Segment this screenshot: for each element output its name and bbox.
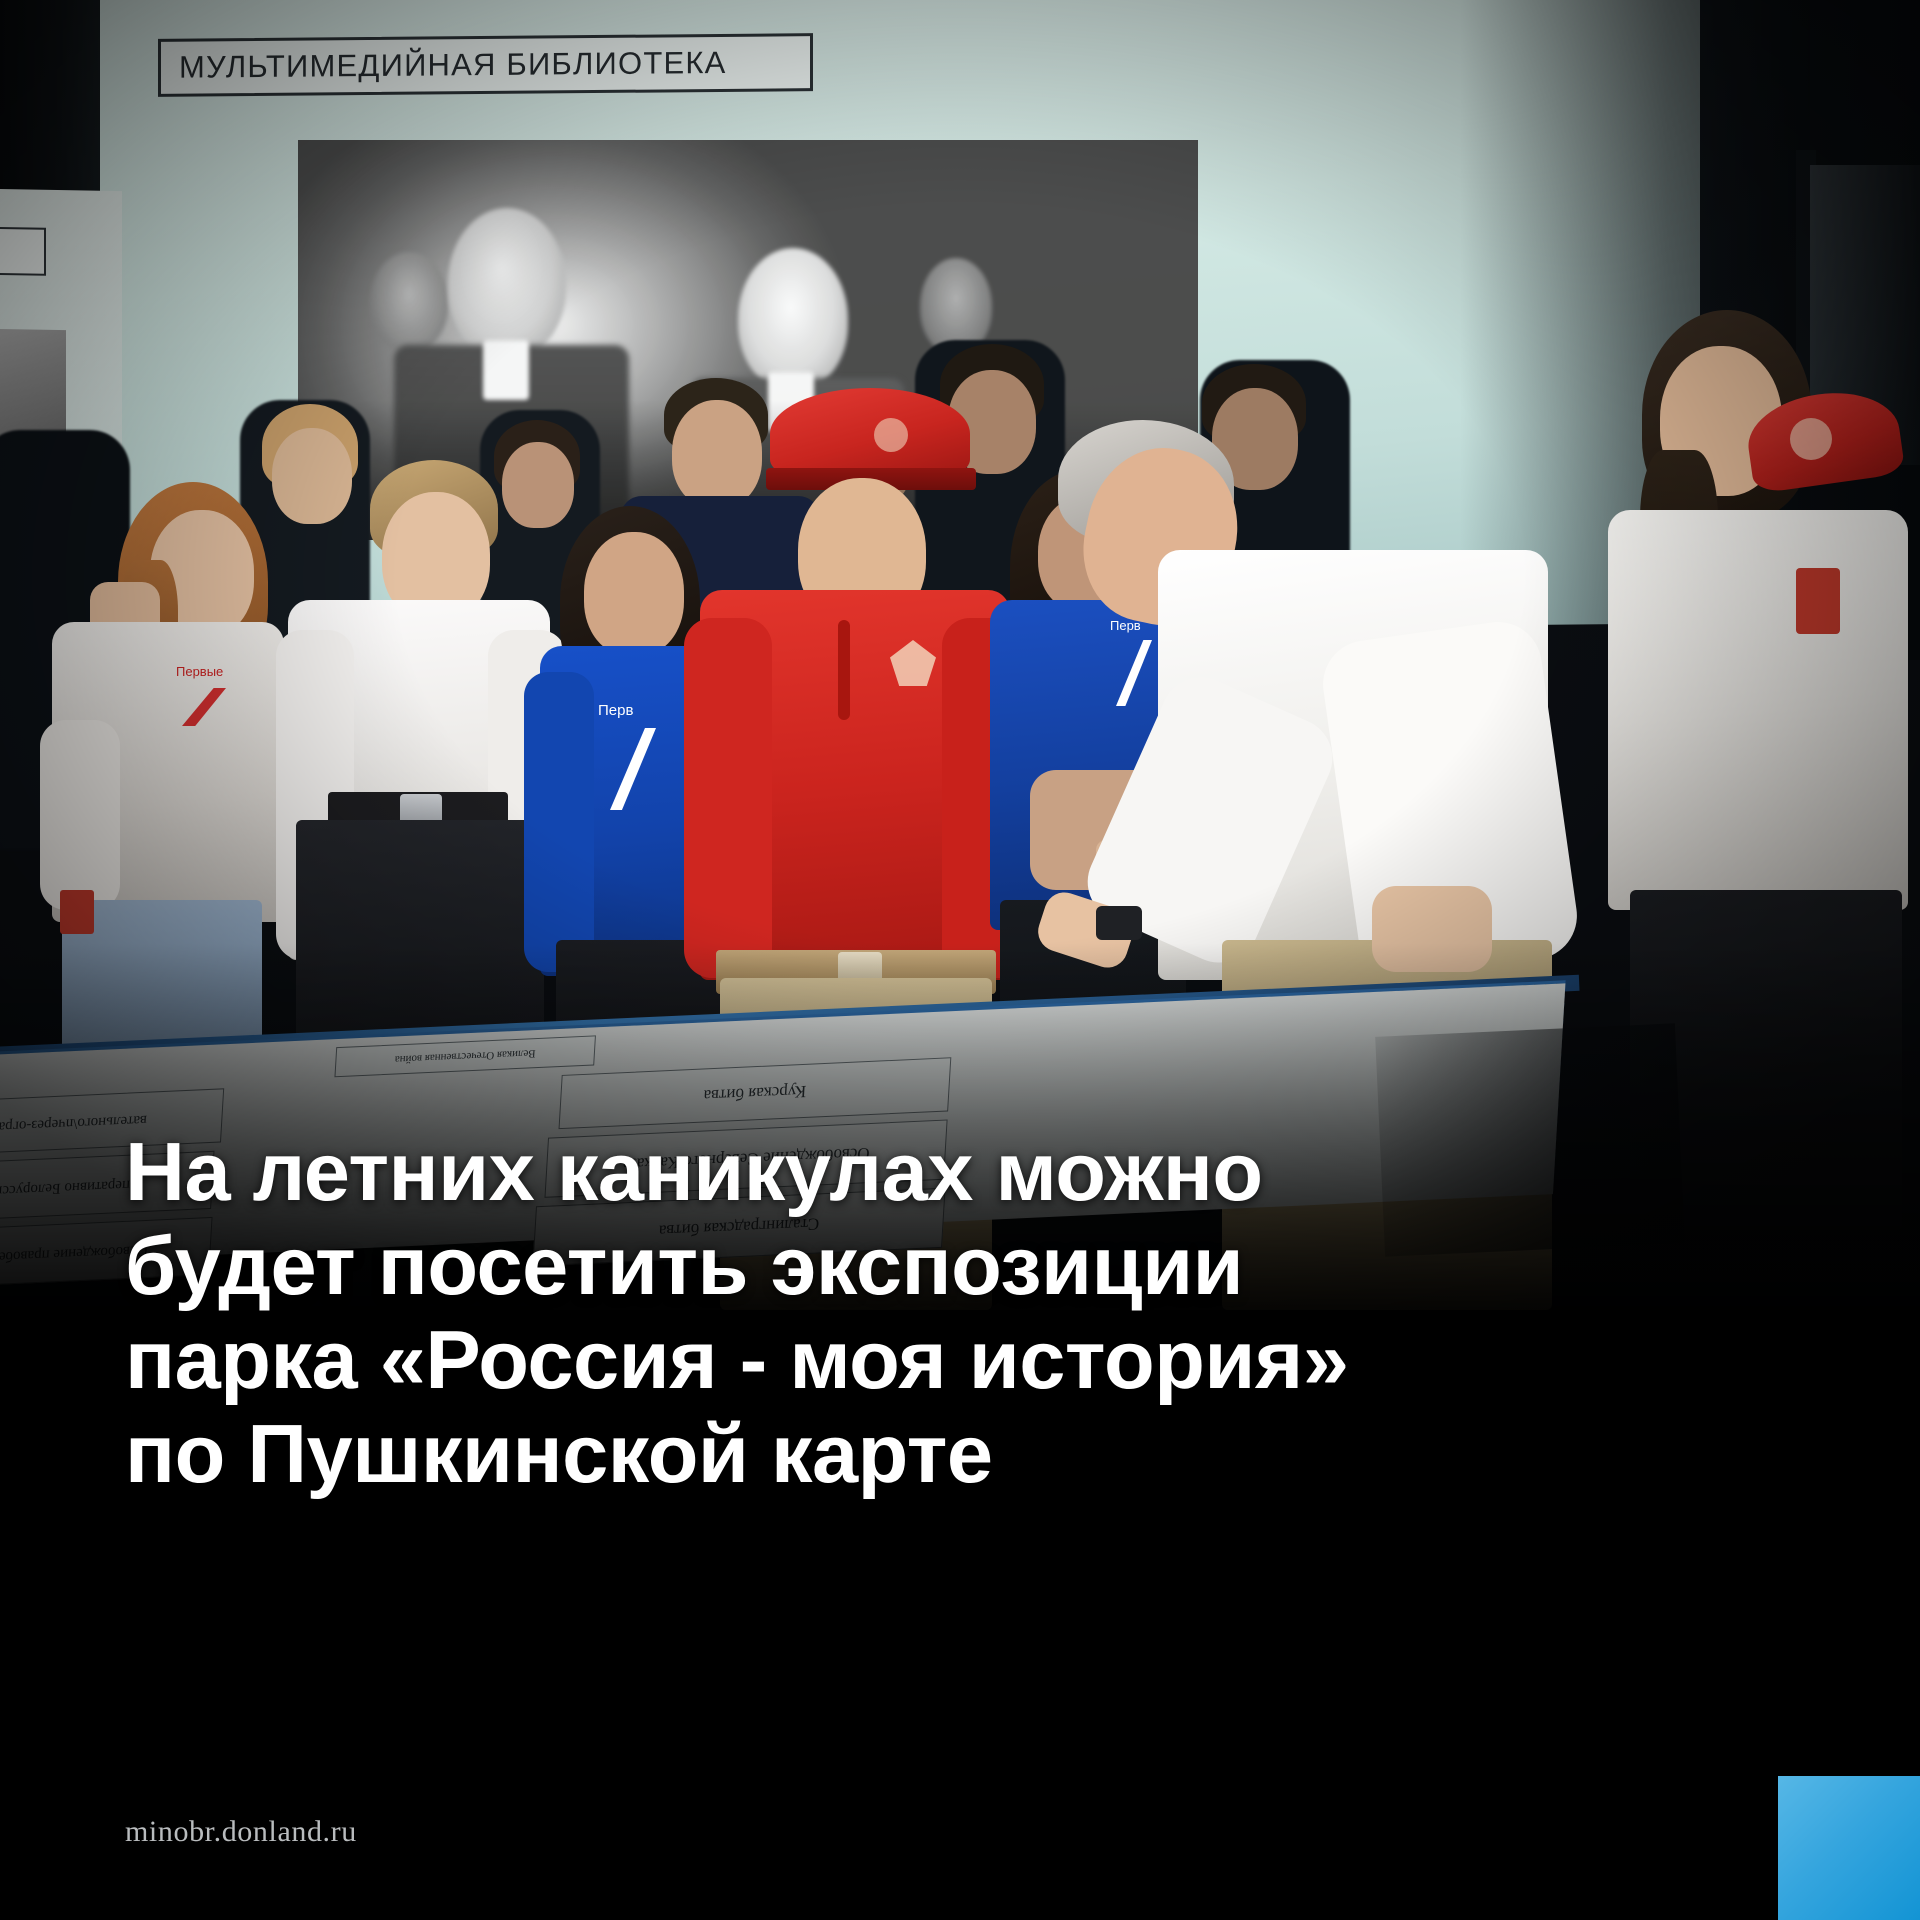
badge-red-right (1796, 568, 1840, 634)
news-card: МУЛЬТИМЕДИЙНАЯ БИБЛИОТЕКА ых орудия обор… (0, 0, 1920, 1920)
beret-emblem (874, 418, 908, 452)
table-cell-header[interactable]: Великая Отечественная война (334, 1035, 596, 1077)
red-cap-emblem (1790, 418, 1832, 460)
badge-red-left (60, 890, 94, 934)
headline-block: На летних каникулах можно будет посетить… (0, 1125, 1920, 1501)
exhibit-title-text: МУЛЬТИМЕДИЙНАЯ БИБЛИОТЕКА (179, 45, 726, 86)
guide-right-hand (1372, 886, 1492, 972)
headline-line-1: На летних каникулах можно (125, 1125, 1920, 1219)
table-cell-r1c2[interactable]: Курская битва (559, 1057, 952, 1129)
red-beret (770, 388, 970, 480)
headline-line-2: будет посетить экспозиции (125, 1219, 1920, 1313)
logo-pervye-text-middle: Перв (598, 702, 690, 720)
logo-pervye-text-left: Первые (176, 664, 238, 680)
headline-line-3: парка «Россия - моя история» (125, 1313, 1920, 1407)
wristwatch (1096, 906, 1142, 940)
photo-region: МУЛЬТИМЕДИЙНАЯ БИБЛИОТЕКА ых орудия обор… (0, 0, 1920, 1310)
panel-title-box (0, 226, 46, 276)
brand-accent-square (1778, 1776, 1920, 1920)
exhibit-title-plaque: МУЛЬТИМЕДИЙНАЯ БИБЛИОТЕКА (158, 33, 813, 97)
polo-placket (838, 620, 850, 720)
headline-line-4: по Пушкинской карте (125, 1407, 1920, 1501)
source-site-url[interactable]: minobr.donland.ru (125, 1815, 357, 1849)
